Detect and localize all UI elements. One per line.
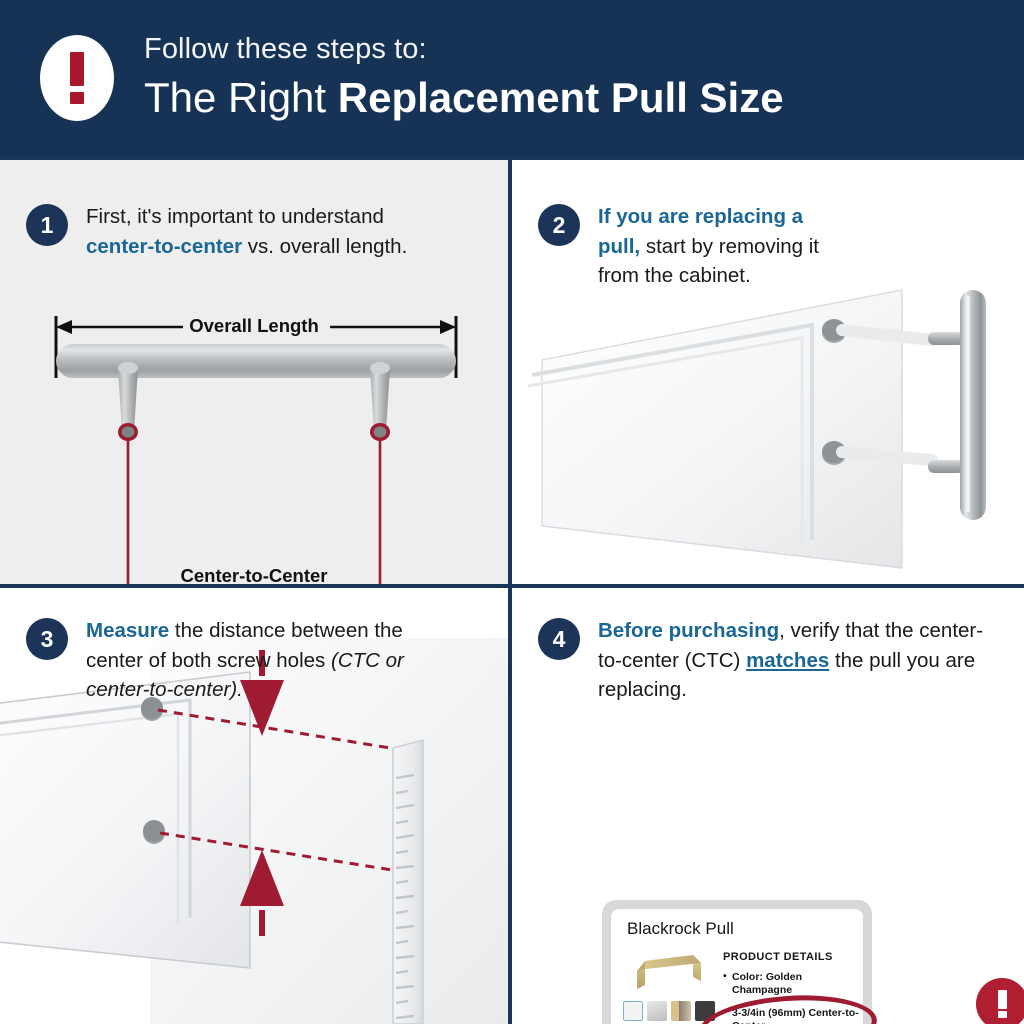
page-header: Follow these steps to: The Right Replace… [0, 0, 1024, 156]
step-4-header: 4 Before purchasing, verify that the cen… [538, 616, 988, 705]
page-title-bold: Replacement Pull Size [338, 74, 784, 121]
header-text: Follow these steps to: The Right Replace… [144, 34, 784, 123]
product-image[interactable] [623, 949, 715, 993]
exclamation-icon [40, 35, 114, 121]
page-title-regular: The Right [144, 74, 338, 121]
product-detail-color: Color: Golden Champagne [723, 971, 859, 998]
step-4-text-part-0: Before purchasing [598, 619, 779, 642]
product-monitor: Blackrock Pull [602, 900, 872, 1024]
thumbnail-pull-icon[interactable] [623, 1001, 643, 1021]
infographic-page: Follow these steps to: The Right Replace… [0, 0, 1024, 1024]
thumbnail-drawer-icon[interactable] [671, 1001, 691, 1021]
step-3-text-part-0: Measure [86, 619, 169, 642]
thumbnail-row[interactable] [623, 1001, 715, 1021]
header-eyebrow: Follow these steps to: [144, 34, 784, 64]
step-4-text: Before purchasing, verify that the cente… [598, 616, 988, 705]
alert-exclamation-icon [976, 978, 1024, 1024]
step-3-number: 3 [26, 618, 68, 660]
step-panel-2: 2 If you are replacing a pull, start by … [512, 160, 1024, 584]
step-3-text: Measure the distance between the center … [86, 616, 426, 705]
overall-length-label: Overall Length [0, 315, 508, 337]
step-panel-3: 3 Measure the distance between the cente… [0, 588, 508, 1024]
product-title: Blackrock Pull [627, 919, 734, 939]
step-4-number: 4 [538, 618, 580, 660]
steps-grid: 1 First, it's important to understand ce… [0, 156, 1024, 1024]
step-2-text: If you are replacing a pull, start by re… [598, 202, 838, 291]
thumbnail-cabinet-icon[interactable] [647, 1001, 667, 1021]
step-panel-1: 1 First, it's important to understand ce… [0, 160, 508, 584]
page-title: The Right Replacement Pull Size [144, 73, 784, 123]
bar-pull-diagram [0, 160, 508, 584]
product-details-heading: PRODUCT DETAILS [723, 951, 859, 963]
step-panel-4: 4 Before purchasing, verify that the cen… [512, 588, 1024, 1024]
step-2-number: 2 [538, 204, 580, 246]
step-2-header: 2 If you are replacing a pull, start by … [538, 202, 838, 291]
ctc-label: Center-to-Center [0, 565, 508, 584]
matches-link[interactable]: matches [746, 649, 829, 672]
step-3-header: 3 Measure the distance between the cente… [26, 616, 426, 705]
